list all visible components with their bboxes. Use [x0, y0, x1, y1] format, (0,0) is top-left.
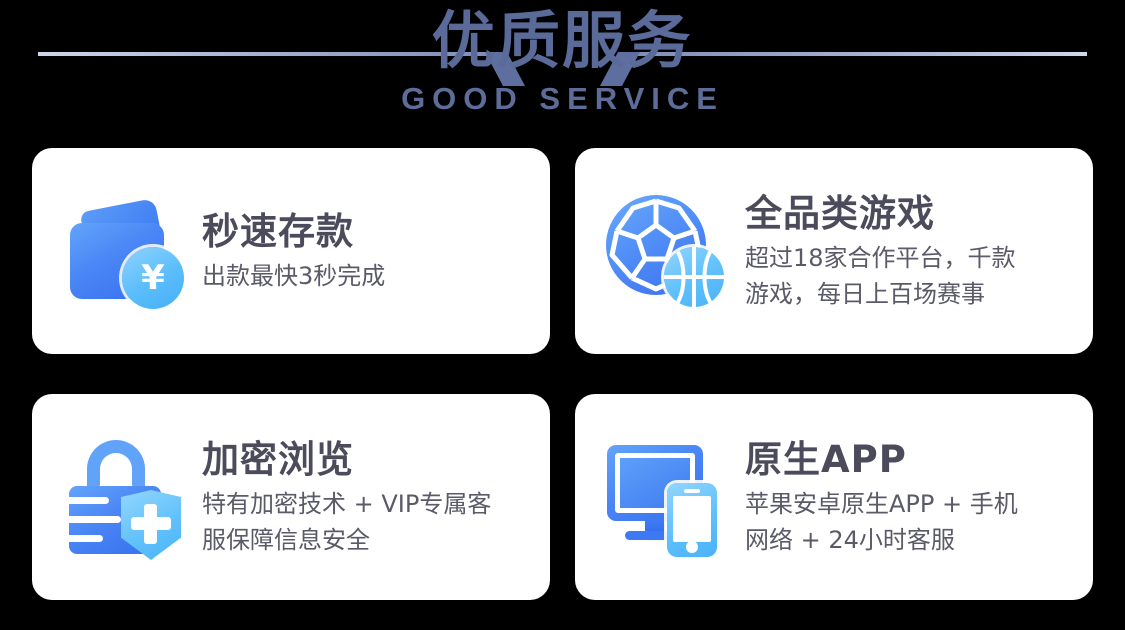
- card-subtitle-line: 网络 + 24小时客服: [745, 522, 1018, 558]
- yen-symbol: ¥: [141, 261, 165, 295]
- card-title: 秒速存款: [202, 209, 385, 254]
- card-subtitle-line: 超过18家合作平台，千款: [745, 240, 1016, 276]
- lock-bar: [69, 497, 109, 504]
- cross-icon: [144, 504, 157, 544]
- card-subtitle: 出款最快3秒完成: [202, 258, 385, 294]
- card-title: 原生APP: [745, 437, 1018, 482]
- feature-card-encryption[interactable]: 加密浏览 特有加密技术 + VIP专属客 服保障信息安全: [32, 394, 550, 600]
- phone-icon: [667, 483, 717, 557]
- feature-card-text: 加密浏览 特有加密技术 + VIP专属客 服保障信息安全: [202, 437, 491, 558]
- feature-card-text: 全品类游戏 超过18家合作平台，千款 游戏，每日上百场赛事: [745, 191, 1016, 312]
- monitor-phone-icon: [601, 431, 733, 563]
- feature-card-text: 秒速存款 出款最快3秒完成: [202, 209, 385, 294]
- feature-card-games[interactable]: 全品类游戏 超过18家合作平台，千款 游戏，每日上百场赛事: [575, 148, 1093, 354]
- basketball-icon: [664, 247, 724, 307]
- header: 优质服务 GOOD SERVICE: [0, 0, 1125, 140]
- page-title: 优质服务: [432, 4, 693, 78]
- lock-shield-icon: [58, 431, 190, 563]
- promo-banner: 优质服务 GOOD SERVICE ¥ 秒速存款: [0, 0, 1125, 630]
- lock-bar: [69, 516, 121, 523]
- phone-screen: [673, 496, 711, 542]
- header-title-block: 优质服务 GOOD SERVICE: [0, 4, 1125, 118]
- feature-card-text: 原生APP 苹果安卓原生APP + 手机 网络 + 24小时客服: [745, 437, 1018, 558]
- card-title: 加密浏览: [202, 437, 491, 482]
- phone-home-button: [686, 541, 698, 553]
- page-subtitle: GOOD SERVICE: [401, 80, 724, 118]
- soccer-basketball-icon: [601, 185, 733, 317]
- card-title: 全品类游戏: [745, 191, 1016, 236]
- lock-bar: [69, 535, 103, 542]
- feature-card-grid: ¥ 秒速存款 出款最快3秒完成: [32, 148, 1093, 600]
- card-subtitle-line: 服保障信息安全: [202, 522, 491, 558]
- card-subtitle-line: 游戏，每日上百场赛事: [745, 276, 1016, 312]
- card-subtitle: 特有加密技术 + VIP专属客 服保障信息安全: [202, 486, 491, 558]
- card-subtitle-line: 出款最快3秒完成: [202, 258, 385, 294]
- wallet-yen-icon: ¥: [58, 185, 190, 317]
- feature-card-deposit[interactable]: ¥ 秒速存款 出款最快3秒完成: [32, 148, 550, 354]
- card-subtitle: 超过18家合作平台，千款 游戏，每日上百场赛事: [745, 240, 1016, 312]
- yen-coin-icon: ¥: [122, 247, 184, 309]
- card-subtitle-line: 特有加密技术 + VIP专属客: [202, 486, 491, 522]
- card-subtitle-line: 苹果安卓原生APP + 手机: [745, 486, 1018, 522]
- phone-speaker: [684, 489, 700, 493]
- feature-card-native-app[interactable]: 原生APP 苹果安卓原生APP + 手机 网络 + 24小时客服: [575, 394, 1093, 600]
- card-subtitle: 苹果安卓原生APP + 手机 网络 + 24小时客服: [745, 486, 1018, 558]
